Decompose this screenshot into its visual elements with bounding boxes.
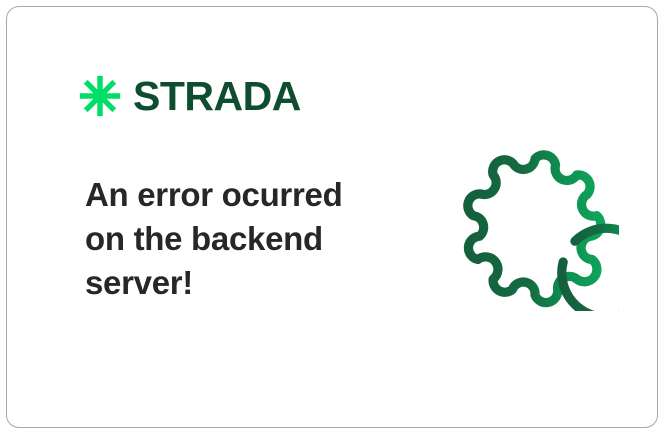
error-card: STRADA An error ocurred on the backend s… <box>6 6 658 428</box>
error-headline: An error ocurred on the backend server! <box>85 173 385 305</box>
brand-wordmark: STRADA <box>133 76 301 117</box>
strada-asterisk-icon <box>79 75 121 117</box>
brand-lockup: STRADA <box>79 75 301 117</box>
gear-icon <box>451 143 619 311</box>
